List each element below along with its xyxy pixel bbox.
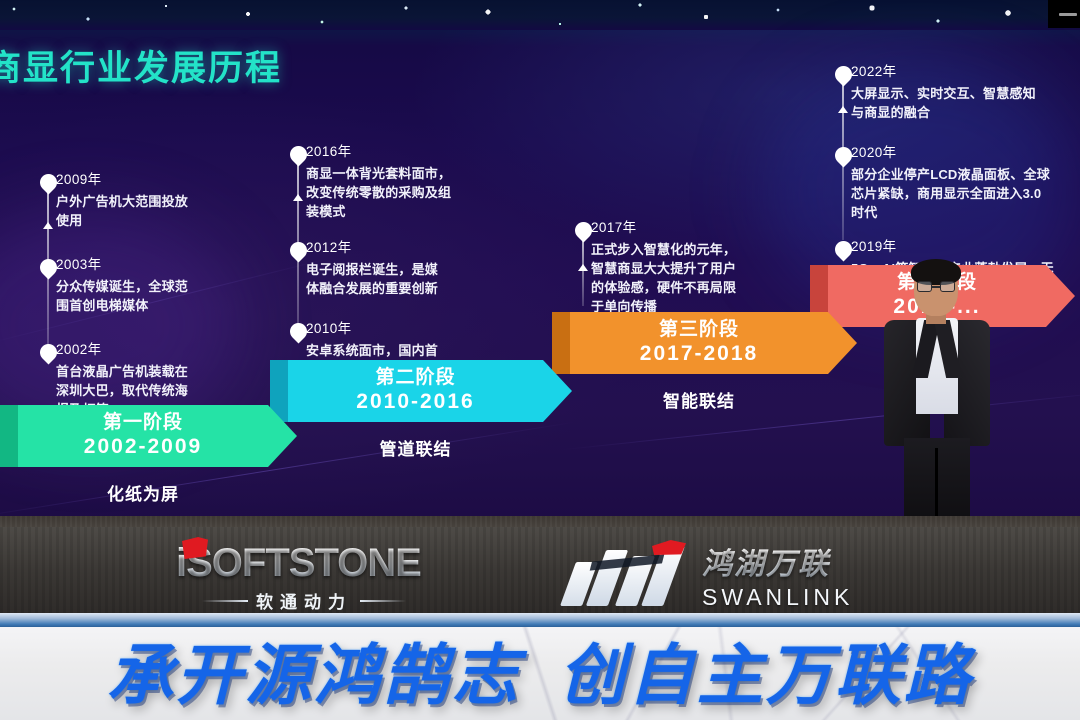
note-year: 2019年	[851, 237, 1075, 257]
phase-name: 第二阶段	[375, 367, 455, 389]
note-year: 2009年	[56, 170, 233, 190]
phase-banner-1: 第一阶段 2002-2009 化纸为屏	[18, 405, 268, 505]
phase-years: 2017-2018	[640, 341, 758, 366]
note-year: 2016年	[306, 142, 493, 162]
corner-overlay-box	[1048, 0, 1080, 28]
phase-subtitle: 智能联结	[570, 387, 828, 412]
isoftstone-chinese: 软通动力	[256, 588, 352, 613]
swanlink-english: SWANLINK	[702, 584, 853, 611]
phase-banner-side	[0, 405, 18, 467]
timeline-note: 2012年 电子阅报栏诞生，是媒 体融合发展的重要创新	[268, 238, 493, 299]
isoftstone-wordmark: iSOFTSTONE	[176, 541, 421, 586]
note-desc: 分众传媒诞生，全球范 围首创电梯媒体	[56, 278, 233, 316]
note-year: 2002年	[56, 340, 233, 360]
phase-banner-bar: 第三阶段 2017-2018	[570, 312, 828, 374]
phase-name: 第一阶段	[103, 412, 183, 434]
isoftstone-logo: iSOFTSTONE 软通动力	[176, 541, 421, 613]
phase-1-notes-column: 2009年 户外广告机大范围投放 使用 2003年 分众传媒诞生，全球范 围首创…	[18, 170, 233, 434]
phase-arrow-tip	[1046, 265, 1075, 327]
timeline-note: 2003年 分众传媒诞生，全球范 围首创电梯媒体	[18, 255, 233, 316]
phase-subtitle: 化纸为屏	[18, 480, 268, 505]
note-year: 2020年	[851, 143, 1075, 163]
note-desc: 户外广告机大范围投放 使用	[56, 193, 233, 231]
swanlink-chinese: 鸿湖万联	[702, 539, 853, 583]
timeline-note: 2017年 正式步入智慧化的元年， 智慧商显大大提升了用户 的体验感，硬件不再局…	[553, 218, 788, 317]
eyeglasses-icon	[917, 281, 955, 292]
presentation-stage-photo: 商显行业发展历程 2009年 户外广告机大范围投放 使用 2003年 分众传媒诞…	[0, 0, 1080, 720]
note-desc: 大屏显示、实时交互、智慧感知 与商显的融合	[851, 85, 1075, 123]
logo-bar: iSOFTSTONE 软通动力 鸿湖万联 SWANLINK	[0, 527, 1080, 617]
slogan-right: 创自主万联路	[559, 638, 973, 712]
note-desc: 电子阅报栏诞生，是媒 体融合发展的重要创新	[306, 261, 493, 299]
note-year: 2017年	[591, 218, 788, 238]
starfield-band	[0, 0, 1080, 30]
phase-years: 2002-2009	[84, 434, 202, 459]
phase-name: 第三阶段	[659, 319, 739, 341]
timeline-note: 2020年 部分企业停产LCD液晶面板、全球 芯片紧缺，商用显示全面进入3.0 …	[813, 143, 1075, 223]
isoftstone-red-mark-icon	[182, 537, 208, 559]
phase-2-notes-column: 2016年 商显一体背光套料面市， 改变传统零散的采购及组 装模式 2012年 …	[268, 142, 493, 394]
swanlink-text: 鸿湖万联 SWANLINK	[702, 539, 853, 611]
phase-banner-3: 第三阶段 2017-2018 智能联结	[570, 312, 828, 412]
phase-years: 2010-2016	[356, 389, 474, 414]
phase-banner-2: 第二阶段 2010-2016 管道联结	[288, 360, 543, 460]
note-year: 2022年	[851, 62, 1075, 82]
swanlink-logo: 鸿湖万联 SWANLINK	[566, 539, 853, 611]
corner-control-bar-icon	[1059, 13, 1077, 16]
swanlink-mark-icon	[566, 542, 686, 608]
slide-title: 商显行业发展历程	[0, 40, 282, 91]
timeline-note: 2016年 商显一体背光套料面市， 改变传统零散的采购及组 装模式	[268, 142, 493, 222]
presenter-person	[878, 262, 996, 530]
slogan-left: 承开源鸿鹄志	[107, 638, 521, 712]
note-desc: 商显一体背光套料面市， 改变传统零散的采购及组 装模式	[306, 165, 493, 222]
note-year: 2010年	[306, 319, 493, 339]
note-desc: 正式步入智慧化的元年， 智慧商显大大提升了用户 的体验感，硬件不再局限 于单向传…	[591, 241, 788, 316]
phase-arrow-tip	[543, 360, 572, 422]
phase-arrow-tip	[268, 405, 297, 467]
rule-right	[360, 600, 406, 602]
phase-banner-bar: 第一阶段 2002-2009	[18, 405, 268, 467]
note-year: 2012年	[306, 238, 493, 258]
event-slogan: 承开源鸿鹄志创自主万联路	[0, 622, 1080, 718]
timeline-note: 2022年 大屏显示、实时交互、智慧感知 与商显的融合	[813, 62, 1075, 123]
isoftstone-main: SOFTSTONE	[186, 541, 421, 585]
phase-arrow-tip	[828, 312, 857, 374]
note-desc: 部分企业停产LCD液晶面板、全球 芯片紧缺，商用显示全面进入3.0 时代	[851, 166, 1075, 223]
phase-banner-bar: 第二阶段 2010-2016	[288, 360, 543, 422]
isoftstone-chinese-row: 软通动力	[176, 588, 421, 613]
note-year: 2003年	[56, 255, 233, 275]
phase-subtitle: 管道联结	[288, 435, 543, 460]
timeline-note: 2009年 户外广告机大范围投放 使用	[18, 170, 233, 231]
rule-left	[202, 600, 248, 602]
